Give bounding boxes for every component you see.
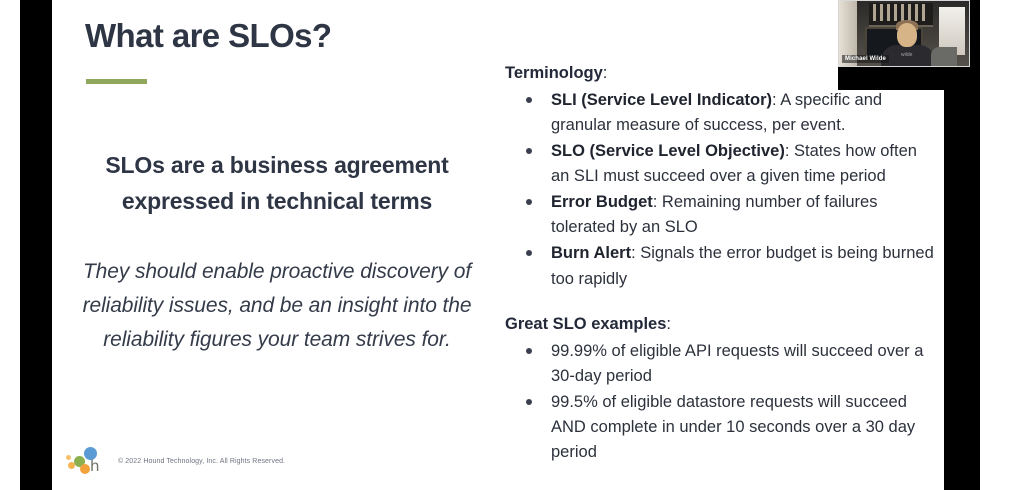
- list-item: SLO (Service Level Objective): States ho…: [505, 139, 935, 189]
- term-label: SLO (Service Level Objective): [551, 142, 785, 160]
- webcam-foreground-object: [931, 47, 957, 67]
- section-spacer: [505, 293, 935, 315]
- example-text: 99.5% of eligible datastore requests wil…: [551, 393, 915, 461]
- slide-italic-paragraph: They should enable proactive discovery o…: [62, 255, 492, 357]
- slide-canvas: What are SLOs? SLOs are a business agree…: [52, 0, 944, 490]
- term-label: Error Budget: [551, 193, 653, 211]
- title-underline-accent: [86, 79, 147, 84]
- list-item: 99.5% of eligible datastore requests wil…: [505, 390, 935, 465]
- terminology-heading-colon: :: [603, 64, 608, 82]
- list-item: Error Budget: Remaining number of failur…: [505, 190, 935, 240]
- logo-dot-orange-small: [66, 455, 71, 460]
- example-text: 99.99% of eligible API requests will suc…: [551, 342, 923, 385]
- webcam-shelf-items: [873, 4, 929, 21]
- examples-list: 99.99% of eligible API requests will suc…: [505, 339, 935, 465]
- webcam-backdrop: [838, 67, 944, 90]
- honeycomb-logo-icon: h: [66, 446, 104, 476]
- slide-lede-statement: SLOs are a business agreement expressed …: [62, 148, 492, 219]
- screen-margin-right: [980, 0, 1024, 490]
- left-column: SLOs are a business agreement expressed …: [62, 148, 492, 357]
- logo-dot-orange-medium: [68, 462, 75, 469]
- terminology-heading-text: Terminology: [505, 64, 603, 82]
- term-label: Burn Alert: [551, 244, 631, 262]
- slide-footer: h © 2022 Hound Technology, Inc. All Righ…: [66, 446, 285, 476]
- examples-heading-colon: :: [666, 315, 671, 333]
- slide-title: What are SLOs?: [85, 17, 331, 55]
- webcam-participant-name: Michael Wilde: [842, 55, 889, 63]
- copyright-text: © 2022 Hound Technology, Inc. All Rights…: [118, 458, 285, 465]
- term-label: SLI (Service Level Indicator): [551, 91, 772, 109]
- right-column: Terminology: SLI (Service Level Indicato…: [505, 64, 935, 466]
- screen-margin-left: [0, 0, 20, 490]
- letterbox-bar-left: [20, 0, 52, 490]
- terminology-list: SLI (Service Level Indicator): A specifi…: [505, 88, 935, 292]
- webcam-video-tile[interactable]: wilde Michael Wilde: [838, 0, 970, 67]
- list-item: Burn Alert: Signals the error budget is …: [505, 241, 935, 291]
- webcam-watermark: wilde: [901, 52, 912, 58]
- logo-letter-h: h: [90, 457, 100, 475]
- examples-heading-text: Great SLO examples: [505, 315, 666, 333]
- examples-heading: Great SLO examples:: [505, 315, 935, 334]
- logo-dot-orange-large: [80, 464, 90, 474]
- list-item: SLI (Service Level Indicator): A specifi…: [505, 88, 935, 138]
- letterbox-bar-right: [944, 0, 980, 490]
- webcam-person-head: [897, 23, 917, 47]
- list-item: 99.99% of eligible API requests will suc…: [505, 339, 935, 389]
- presentation-screen: What are SLOs? SLOs are a business agree…: [0, 0, 1024, 490]
